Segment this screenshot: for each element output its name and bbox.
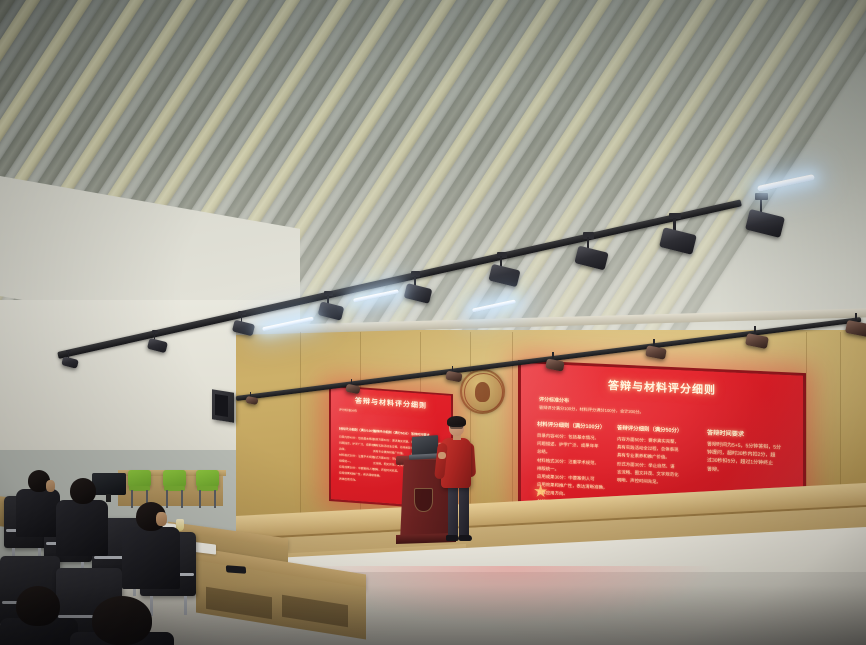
presenter-shoe-left — [446, 535, 459, 541]
audience-member-face — [46, 480, 55, 492]
audience-member-body — [16, 489, 60, 537]
conference-chair-green[interactable] — [196, 470, 219, 487]
chair-leg — [199, 490, 201, 508]
audience-member-head — [92, 596, 152, 645]
presenter-shoe-right — [459, 535, 472, 541]
audience-member-head — [16, 586, 60, 626]
presenter-glasses-icon — [450, 425, 463, 429]
screenshot-root: 答辩与材料评分细则 评分标准分布材料评分细则（满分100分）目录内容40分：包括… — [0, 0, 866, 645]
presenter-leg-left — [448, 486, 458, 538]
chair-leg — [131, 490, 133, 508]
audience-member-head — [70, 478, 96, 504]
mobile-phone[interactable] — [226, 565, 246, 573]
conference-chair-green[interactable] — [128, 470, 151, 487]
audience-member-face — [156, 512, 167, 526]
control-monitor[interactable] — [92, 473, 126, 495]
chair-leg — [184, 596, 187, 615]
presenter-leg-right — [459, 486, 469, 538]
chair-leg — [181, 490, 183, 508]
presenter-hand — [438, 452, 446, 459]
audience-member-body — [56, 500, 108, 556]
audience-member-body — [122, 527, 180, 589]
chair-leg — [214, 490, 216, 508]
chair-leg — [166, 490, 168, 508]
conference-chair-green[interactable] — [163, 470, 186, 487]
monitor-stand — [106, 494, 111, 502]
